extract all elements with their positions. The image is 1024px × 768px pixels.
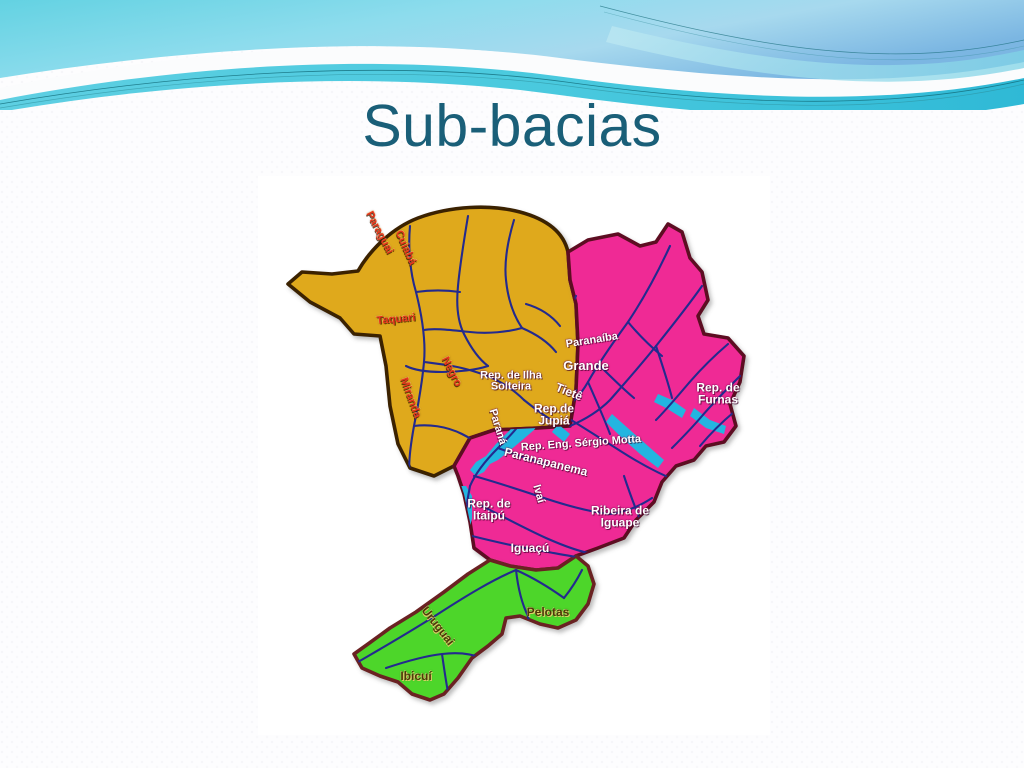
label-paranapanema: Paranapanema	[503, 446, 589, 479]
map-container[interactable]: ParaguaiCuiabáTaquariNegroMirandaParanaí…	[258, 176, 770, 735]
map-labels-overlay: ParaguaiCuiabáTaquariNegroMirandaParanaí…	[258, 176, 770, 735]
label-ibicui: Ibicuí	[400, 670, 431, 682]
label-rep-itaipu: Rep. deItaipú	[467, 498, 510, 523]
presentation-slide: Sub-bacias	[0, 0, 1024, 768]
label-uruguai: Uruguai	[419, 604, 457, 647]
label-parana: Paraná	[486, 408, 508, 446]
label-miranda: Miranda	[397, 376, 422, 420]
label-rep-ilha-solteira: Rep. de IlhaSolteira	[480, 371, 542, 394]
label-pelotas: Pelotas	[527, 606, 570, 618]
label-taquari: Taquari	[376, 313, 416, 328]
label-paranaiba: Paranaíba	[565, 331, 619, 351]
label-tiete: Tietê	[554, 381, 584, 403]
label-rep-eng-sergio-motta: Rep. Eng. Sérgio Motta	[521, 434, 642, 454]
label-ivai: Ivaí	[530, 484, 546, 505]
label-negro: Negro	[439, 355, 464, 389]
label-rep-jupia: Rep.deJupiá	[534, 403, 574, 428]
slide-title: Sub-bacias	[0, 92, 1024, 160]
label-cuiaba: Cuiabá	[392, 229, 417, 267]
label-rep-furnas: Rep. deFurnas	[696, 382, 739, 407]
label-paraguai: Paraguai	[363, 210, 395, 256]
label-iguacu: Iguaçú	[511, 542, 550, 554]
label-grande: Grande	[563, 359, 609, 373]
label-ribeira-de-iguape: Ribeira deIguape	[591, 505, 649, 530]
